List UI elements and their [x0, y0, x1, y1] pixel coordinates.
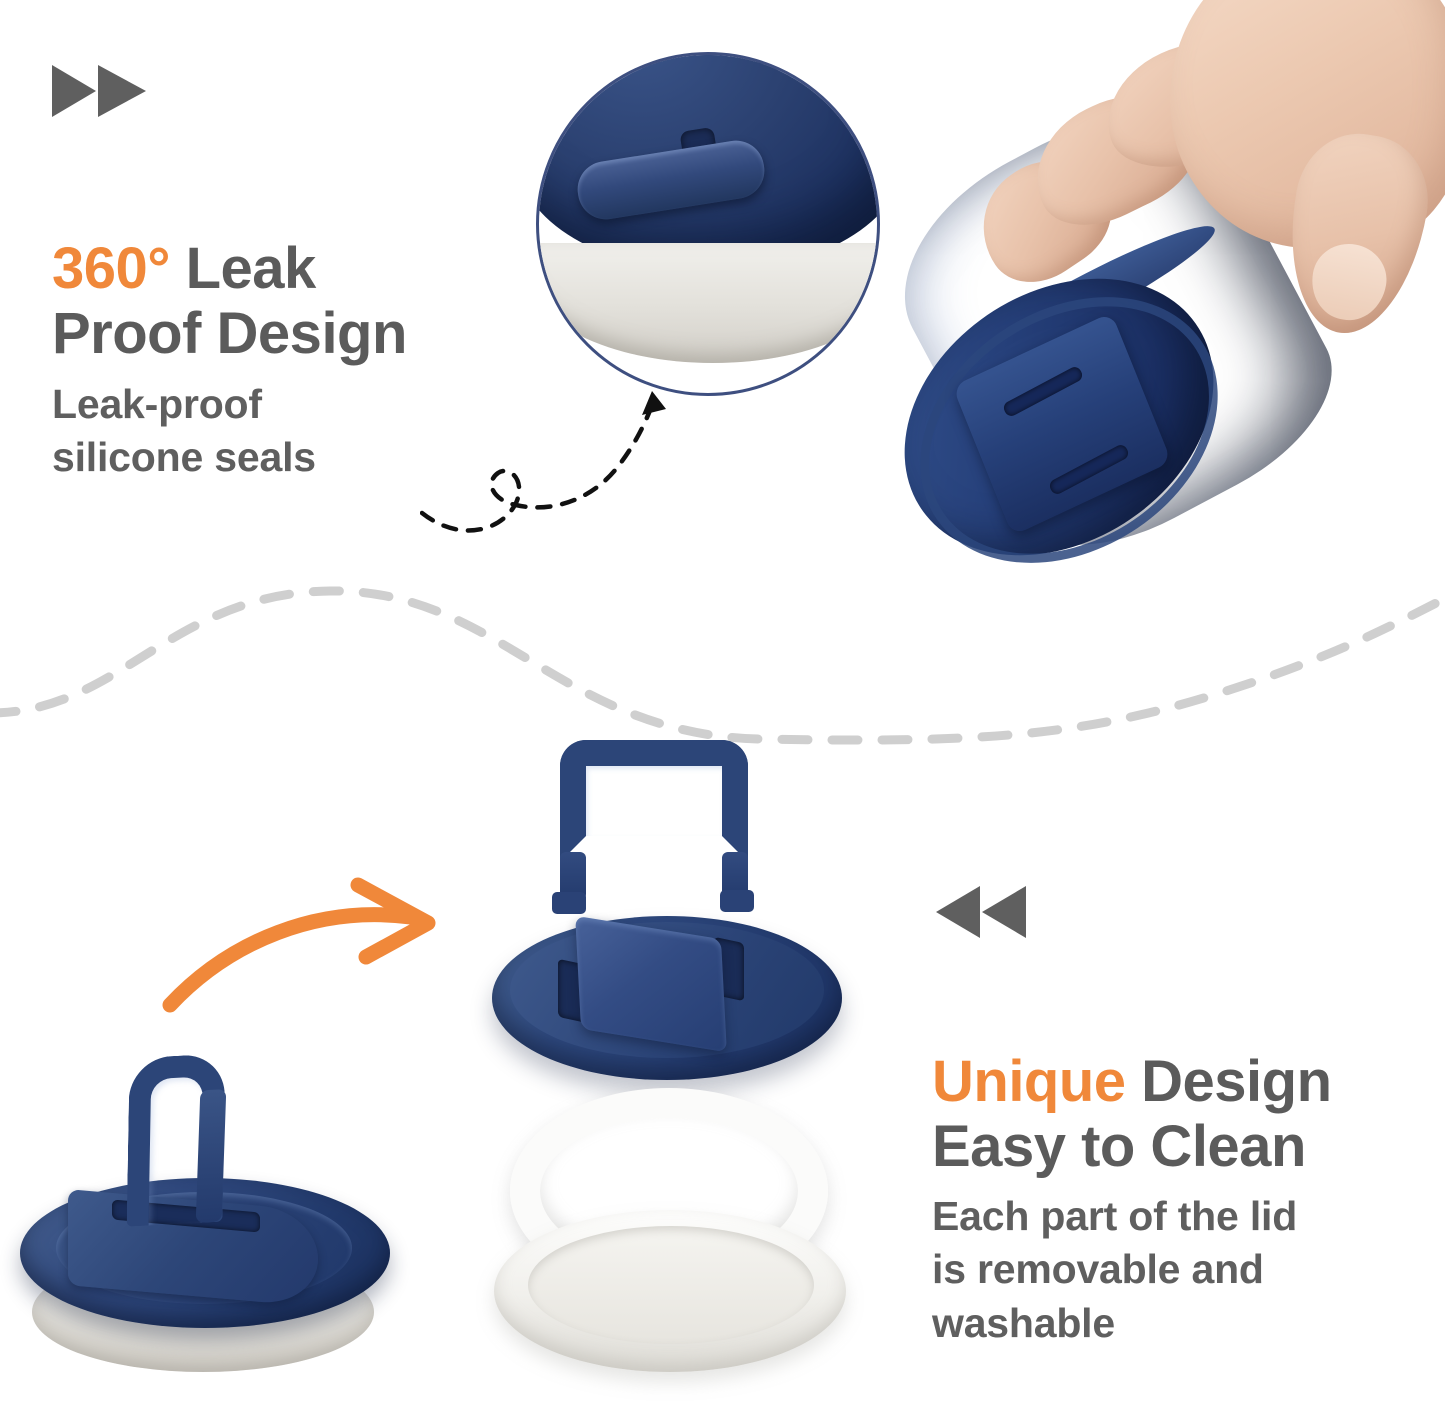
- hand-holding-tumbler: [878, 0, 1445, 612]
- lid-exploded: [470, 740, 870, 1400]
- infographic-page: 360° Leak Proof Design Leak-proof silico…: [0, 0, 1445, 1415]
- lid-assembled: [8, 1050, 428, 1390]
- leak-proof-heading: 360° Leak Proof Design: [52, 172, 522, 367]
- dashed-wave-divider: [0, 585, 1445, 755]
- leak-proof-subtext: Leak-proof silicone seals: [52, 378, 472, 485]
- hand: [974, 0, 1424, 342]
- orange-curved-arrow-icon: [160, 865, 470, 1035]
- lid-seal-closeup-circle: [536, 52, 880, 396]
- dashed-curved-arrow-icon: [420, 365, 710, 555]
- easy-to-clean-subtext: Each part of the lid is removable and wa…: [932, 1190, 1402, 1350]
- rewind-icon: [932, 884, 1028, 945]
- easy-to-clean-heading: Unique Design Easy to Clean: [932, 985, 1432, 1180]
- leak-proof-heading-accent: 360°: [52, 236, 170, 301]
- lid-handle-part: [560, 740, 748, 862]
- fast-forward-icon: [52, 63, 148, 124]
- easy-to-clean-heading-accent: Unique: [932, 1049, 1126, 1114]
